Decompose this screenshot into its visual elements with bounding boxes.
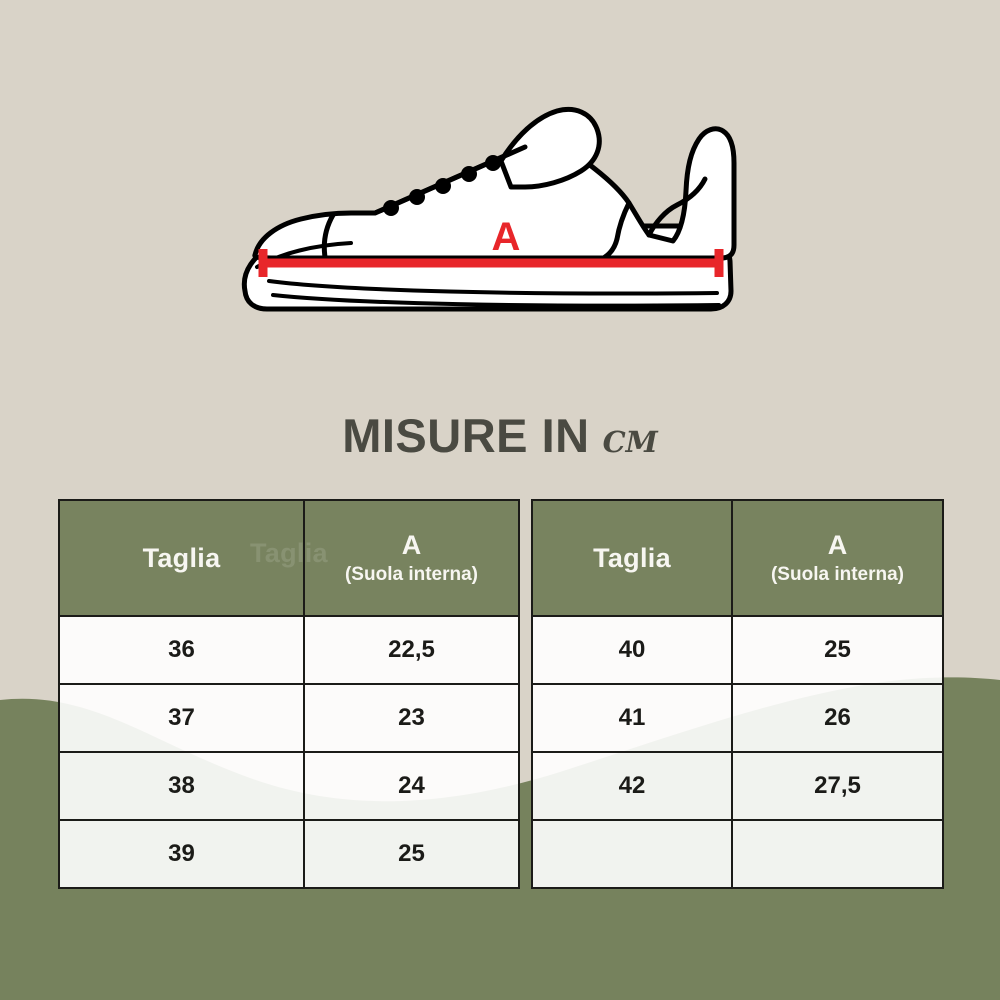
cell-measure: 25 [732,616,943,684]
header-measure-sub: (Suola interna) [305,565,518,584]
cell-size: 36 [59,616,304,684]
header-measure-sub: (Suola interna) [733,565,942,584]
cell-size: 38 [59,752,304,820]
size-chart-page: A MISURE INcm Taglia A (Suola interna) 3… [0,0,1000,1000]
header-measure-main: A [305,532,518,559]
cell-measure: 23 [304,684,519,752]
cell-measure [732,820,943,888]
header-measure-main: A [733,532,942,559]
cell-size: 42 [532,752,732,820]
size-table-left: Taglia A (Suola interna) 36 22,5 37 23 3… [58,499,520,889]
table-row: 38 24 [59,752,519,820]
table-row: 40 25 [532,616,943,684]
table-row: 37 23 [59,684,519,752]
table-header-row: Taglia A (Suola interna) [532,500,943,616]
cell-measure: 25 [304,820,519,888]
cell-size: 39 [59,820,304,888]
measurement-label-a: A [492,215,521,259]
size-table-right: Taglia A (Suola interna) 40 25 41 26 42 … [531,499,944,889]
header-measure: A (Suola interna) [304,500,519,616]
table-row: 39 25 [59,820,519,888]
header-size: Taglia [59,500,304,616]
sneaker-illustration: A [225,95,765,350]
cell-size: 41 [532,684,732,752]
cell-size: 40 [532,616,732,684]
page-title: MISURE INcm [0,408,1000,463]
cell-size [532,820,732,888]
table-row: 41 26 [532,684,943,752]
table-row: 36 22,5 [59,616,519,684]
header-measure: A (Suola interna) [732,500,943,616]
table-row: 42 27,5 [532,752,943,820]
table-header-row: Taglia A (Suola interna) [59,500,519,616]
cell-measure: 22,5 [304,616,519,684]
cell-measure: 26 [732,684,943,752]
page-title-unit: cm [603,413,658,462]
page-title-main: MISURE IN [342,409,589,462]
cell-measure: 24 [304,752,519,820]
table-row-empty [532,820,943,888]
header-size: Taglia [532,500,732,616]
cell-measure: 27,5 [732,752,943,820]
cell-size: 37 [59,684,304,752]
